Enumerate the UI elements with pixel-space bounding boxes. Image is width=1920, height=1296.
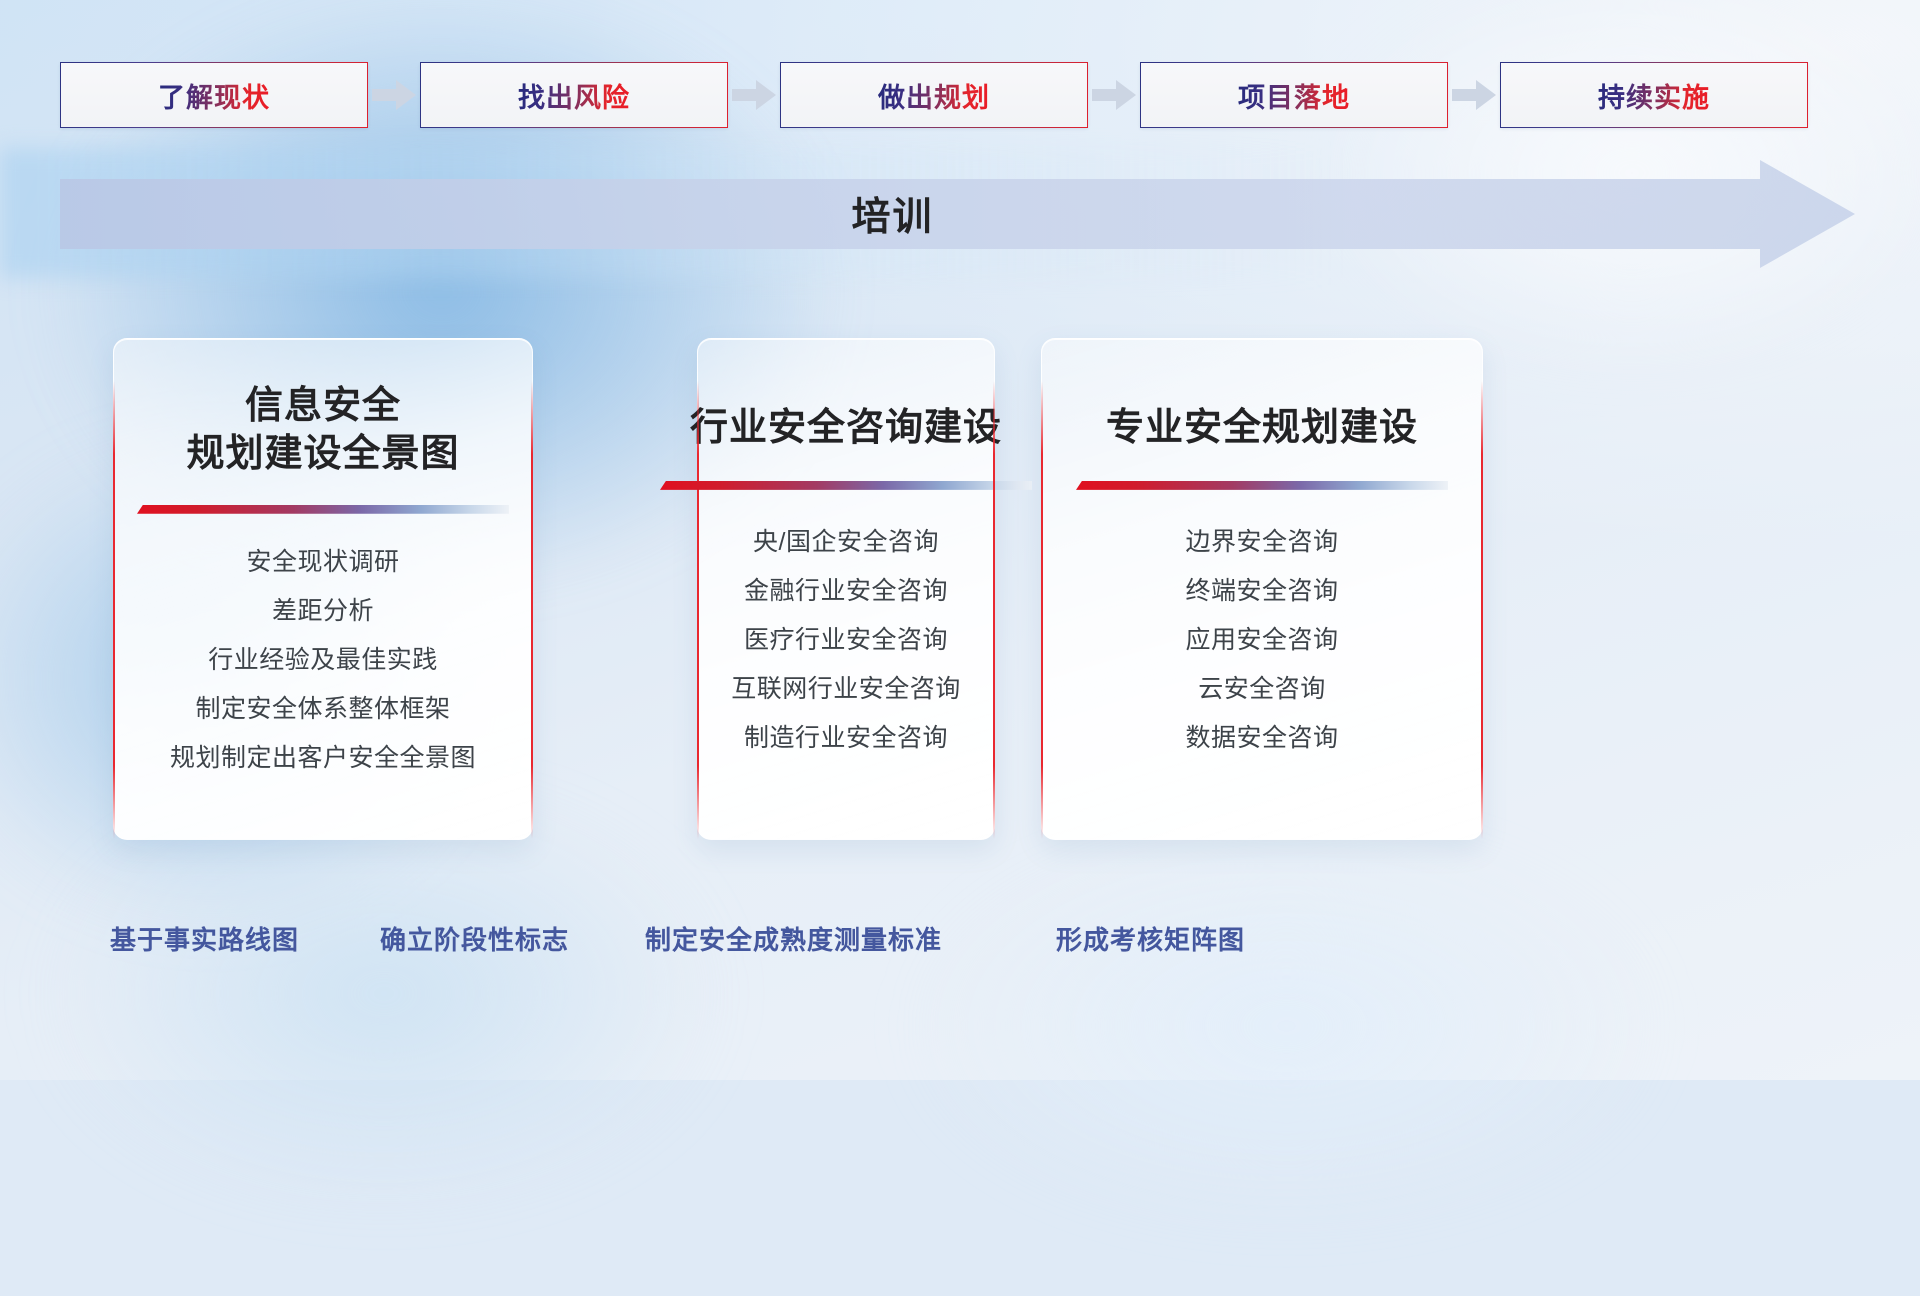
list-item: 数据安全咨询 bbox=[1185, 718, 1338, 758]
footnote-4: 形成考核矩阵图 bbox=[1056, 920, 1245, 957]
card-information-security-blueprint[interactable]: 信息安全 规划建设全景图 安全现状调研 差距分析 行业经验及最佳实践 制定安全体… bbox=[113, 338, 533, 840]
list-item: 制定安全体系整体框架 bbox=[195, 689, 450, 729]
step-label-4: 项目落地 bbox=[1238, 76, 1350, 115]
list-item: 规划制定出客户安全全景图 bbox=[170, 738, 476, 778]
card-list-2: 央/国企安全咨询 金融行业安全咨询 医疗行业安全咨询 互联网行业安全咨询 制造行… bbox=[731, 522, 961, 758]
list-item: 制造行业安全咨询 bbox=[744, 718, 948, 758]
list-item: 云安全咨询 bbox=[1198, 669, 1326, 709]
banner-title: 培训 bbox=[851, 186, 933, 242]
list-item: 金融行业安全咨询 bbox=[744, 571, 948, 611]
card-title-1: 信息安全 规划建设全景图 bbox=[186, 383, 459, 479]
step-label-3: 做出规划 bbox=[878, 76, 990, 115]
list-item: 安全现状调研 bbox=[246, 542, 399, 582]
footnote-2: 确立阶段性标志 bbox=[380, 920, 569, 957]
card-row: 信息安全 规划建设全景图 安全现状调研 差距分析 行业经验及最佳实践 制定安全体… bbox=[0, 338, 1920, 873]
list-item: 行业经验及最佳实践 bbox=[208, 640, 438, 680]
card-professional-security-planning[interactable]: 专业安全规划建设 边界安全咨询 终端安全咨询 应用安全咨询 云安全咨询 数据安全… bbox=[1041, 338, 1483, 840]
card-list-1: 安全现状调研 差距分析 行业经验及最佳实践 制定安全体系整体框架 规划制定出客户… bbox=[170, 542, 476, 778]
step-box-1[interactable]: 了解现状 bbox=[60, 62, 368, 128]
list-item: 应用安全咨询 bbox=[1185, 620, 1338, 660]
list-item: 互联网行业安全咨询 bbox=[731, 669, 961, 709]
step-box-3[interactable]: 做出规划 bbox=[780, 62, 1088, 128]
card-divider-1 bbox=[137, 505, 509, 514]
list-item: 终端安全咨询 bbox=[1185, 571, 1338, 611]
banner-label-wrapper: 培训 bbox=[60, 160, 1855, 268]
card-industry-security-consulting[interactable]: 行业安全咨询建设 央/国企安全咨询 金融行业安全咨询 医疗行业安全咨询 互联网行… bbox=[697, 338, 995, 840]
list-item: 差距分析 bbox=[272, 591, 374, 631]
step-arrow-icon-3 bbox=[1088, 78, 1140, 112]
card-title-2: 行业安全咨询建设 bbox=[690, 405, 1002, 453]
step-label-5: 持续实施 bbox=[1598, 76, 1710, 115]
card-title-3: 专业安全规划建设 bbox=[1106, 405, 1418, 453]
card-divider-2 bbox=[660, 481, 1032, 490]
footnote-1: 基于事实路线图 bbox=[110, 920, 299, 957]
list-item: 医疗行业安全咨询 bbox=[744, 620, 948, 660]
list-item: 央/国企安全咨询 bbox=[753, 522, 939, 562]
step-box-5[interactable]: 持续实施 bbox=[1500, 62, 1808, 128]
step-box-4[interactable]: 项目落地 bbox=[1140, 62, 1448, 128]
card-divider-3 bbox=[1076, 481, 1448, 490]
step-arrow-icon-2 bbox=[728, 78, 780, 112]
step-label-1: 了解现状 bbox=[158, 76, 270, 115]
step-label-2: 找出风险 bbox=[518, 76, 630, 115]
step-arrow-icon-1 bbox=[368, 78, 420, 112]
footnote-row: 基于事实路线图 确立阶段性标志 制定安全成熟度测量标准 形成考核矩阵图 bbox=[0, 920, 1920, 980]
card-list-3: 边界安全咨询 终端安全咨询 应用安全咨询 云安全咨询 数据安全咨询 bbox=[1185, 522, 1338, 758]
process-step-row: 了解现状 找出风险 做出规划 项目落地 持续实施 bbox=[60, 62, 1860, 128]
training-banner: 培训 bbox=[60, 160, 1855, 268]
list-item: 边界安全咨询 bbox=[1185, 522, 1338, 562]
step-arrow-icon-4 bbox=[1448, 78, 1500, 112]
footnote-3: 制定安全成熟度测量标准 bbox=[645, 920, 942, 957]
step-box-2[interactable]: 找出风险 bbox=[420, 62, 728, 128]
